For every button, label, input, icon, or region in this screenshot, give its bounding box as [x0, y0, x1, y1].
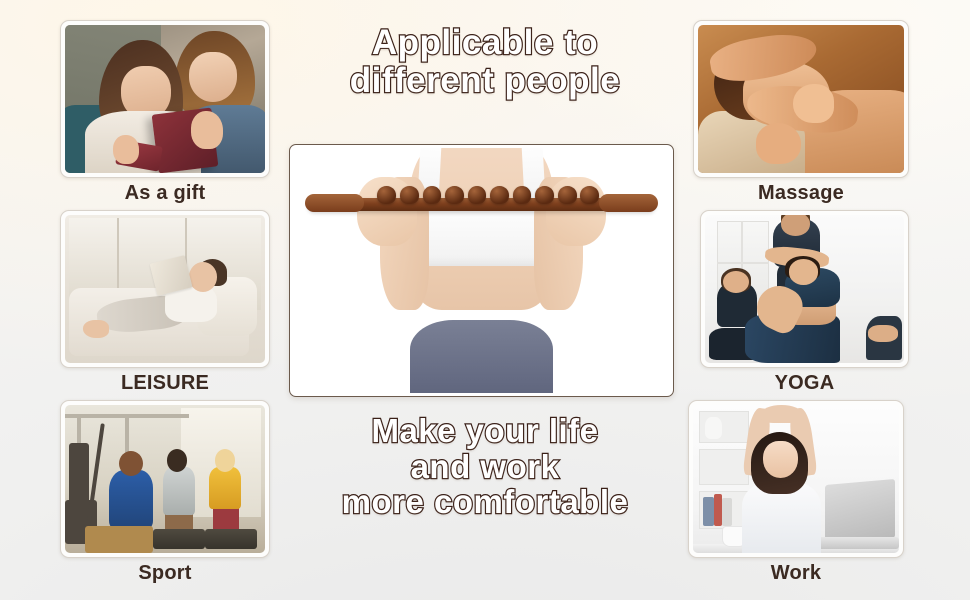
tagline: Make your lifeand workmore comfortable	[290, 413, 680, 520]
page-title: Applicable todifferent people	[300, 24, 670, 100]
massage-stick	[308, 187, 655, 216]
panel-product-hero[interactable]	[289, 144, 674, 397]
leisure-photo	[65, 215, 265, 363]
panel-work[interactable]	[688, 400, 904, 558]
panel-sport[interactable]	[60, 400, 270, 558]
panel-leisure[interactable]	[60, 210, 270, 368]
work-photo	[693, 405, 899, 553]
panel-yoga[interactable]	[700, 210, 909, 368]
panel-massage[interactable]	[693, 20, 909, 178]
sport-photo	[65, 405, 265, 553]
caption-massage: Massage	[693, 182, 909, 205]
panel-gift[interactable]	[60, 20, 270, 178]
caption-gift: As a gift	[60, 182, 270, 205]
caption-work: Work	[688, 562, 904, 585]
massage-photo	[698, 25, 904, 173]
product-photo	[293, 148, 670, 393]
caption-yoga: YOGA	[700, 372, 909, 395]
promo-banner: As a gift LEISURE	[0, 0, 970, 600]
gift-photo	[65, 25, 265, 173]
caption-leisure: LEISURE	[60, 372, 270, 395]
yoga-photo	[705, 215, 904, 363]
caption-sport: Sport	[60, 562, 270, 585]
